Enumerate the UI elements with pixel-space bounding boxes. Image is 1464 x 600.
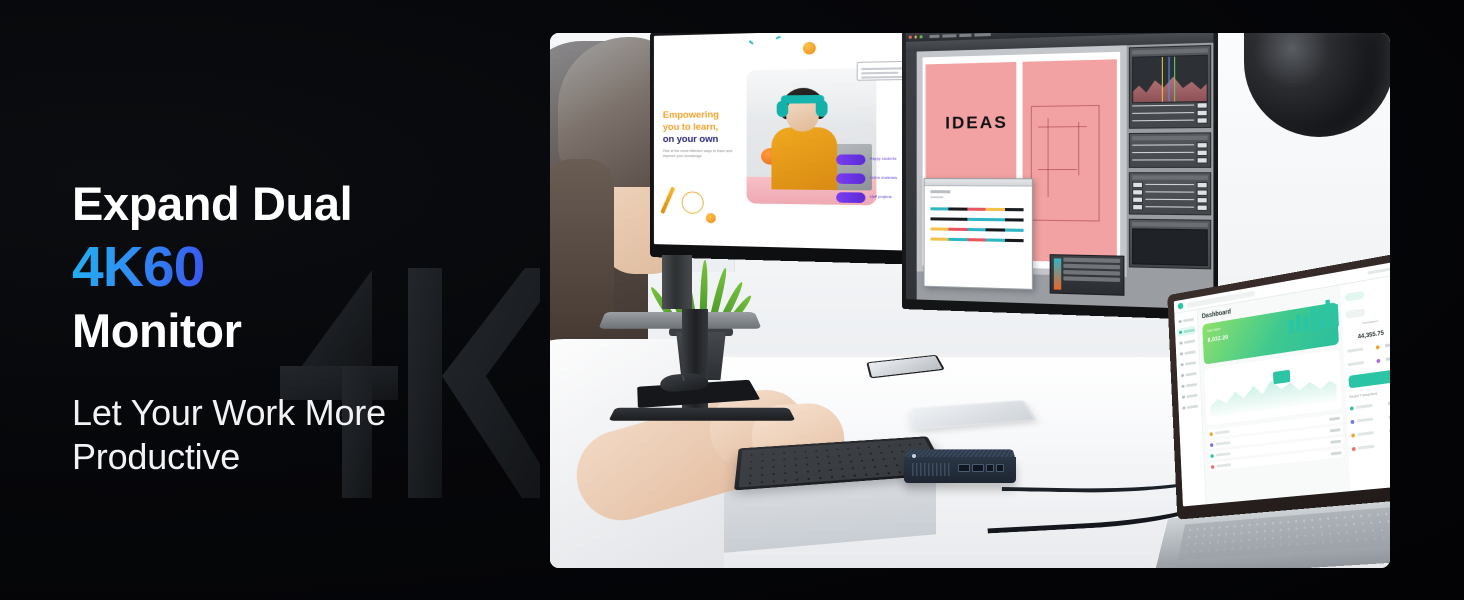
document-title: IDEAS [945,112,1008,133]
panel-color-balance [1129,132,1211,168]
blueprint-drawing [1031,105,1100,222]
asset-row-1 [1348,353,1390,369]
headline-line-3: Monitor [72,303,552,359]
photo-scene: Empowering you to learn, on your own One… [550,33,1390,568]
transaction-row-3 [1352,439,1390,453]
laptop-lid: Dashboard Main Wallet 8,032.20 [1167,253,1390,520]
headline-4k60: 4K60 [72,231,204,303]
panel-navigator [1129,219,1211,270]
wallet-card-amount: 8,032.20 [1208,335,1229,344]
chip-buy[interactable] [1344,291,1364,302]
laptop: Dashboard Main Wallet 8,032.20 [1161,250,1390,568]
sidebar-item-3[interactable] [1178,348,1196,359]
monitor-left-neck [662,255,692,309]
dock-port-2 [986,464,994,472]
slide-body-text: One of the most effective ways to learn … [663,149,738,160]
monitor-right-bezel: IDEAS [902,33,1218,320]
slide-pill-label-2: staff projects [870,195,892,200]
transaction-row-1 [1350,411,1390,426]
sidebar-item-7[interactable] [1180,391,1198,402]
sidebar-item-dashboard[interactable] [1177,326,1195,337]
transaction-row-2 [1351,425,1390,439]
monitor-right: IDEAS [902,33,1218,320]
buy-sell-button[interactable] [1348,369,1390,388]
slide-title: Empowering you to learn, on your own [663,109,719,146]
slide-pill-label-1: online materials [870,176,897,180]
sidebar-item-0[interactable] [1177,315,1195,326]
sidebar-item-5[interactable] [1179,369,1197,380]
monitor-left-screen: Empowering you to learn, on your own One… [654,33,919,251]
sidebar-item-4[interactable] [1179,358,1197,369]
recent-transactions-title: Recent Transactions [1349,389,1390,399]
dock-port-0 [958,464,970,472]
slide-pill-1 [836,173,865,184]
monitor-left-base [598,312,761,329]
wallet-card-label: Main Wallet [1207,327,1220,333]
headline-line-1: Expand Dual [72,176,552,231]
product-banner: Expand Dual 4K60 Monitor Let Your Work M… [0,0,1464,600]
panel-adjustments [1129,172,1211,215]
swatch-window [924,178,1033,290]
pencil-icon [660,187,675,214]
transaction-row-0 [1350,398,1390,413]
sidebar-item-6[interactable] [1180,380,1198,391]
dashboard-rightbar: Total Balance 44,355.75 Recent Transacti… [1341,275,1390,491]
app-tool-palette [906,52,917,300]
slide-pill-2 [836,192,865,203]
app-layer-popover [1050,254,1125,296]
headline-block: Expand Dual 4K60 Monitor Let Your Work M… [72,176,552,479]
dashboard-logo-icon [1178,302,1184,309]
monitor-left-bezel: Empowering you to learn, on your own One… [650,33,923,265]
circle-doodle-icon [682,191,704,214]
slide-pill-0 [836,154,865,165]
sidebar-item-2[interactable] [1178,337,1196,348]
monitor-left: Empowering you to learn, on your own One… [650,33,923,265]
slide-pill-label-0: Happy students [870,157,897,161]
monitor-right-base [608,408,795,421]
slide-photo [747,68,877,206]
balance-value: 44,355.75 [1346,328,1390,342]
asset-row-0 [1347,340,1390,356]
product-photo: Empowering you to learn, on your own One… [550,33,1390,568]
dashboard-main: Dashboard Main Wallet 8,032.20 [1198,285,1351,504]
app-panel-stack [1129,45,1211,288]
monitor-right-screen: IDEAS [906,33,1214,309]
dock-vent [912,463,952,476]
subheadline: Let Your Work More Productive [72,391,552,479]
sidebar-item-8[interactable] [1181,402,1199,413]
chip-sell[interactable] [1345,308,1365,319]
chart-tooltip [1273,369,1290,384]
dock-power-led-icon [912,454,916,458]
panel-histogram [1129,45,1211,129]
dock-port-1 [972,464,984,472]
laptop-screen: Dashboard Main Wallet 8,032.20 [1174,262,1390,507]
